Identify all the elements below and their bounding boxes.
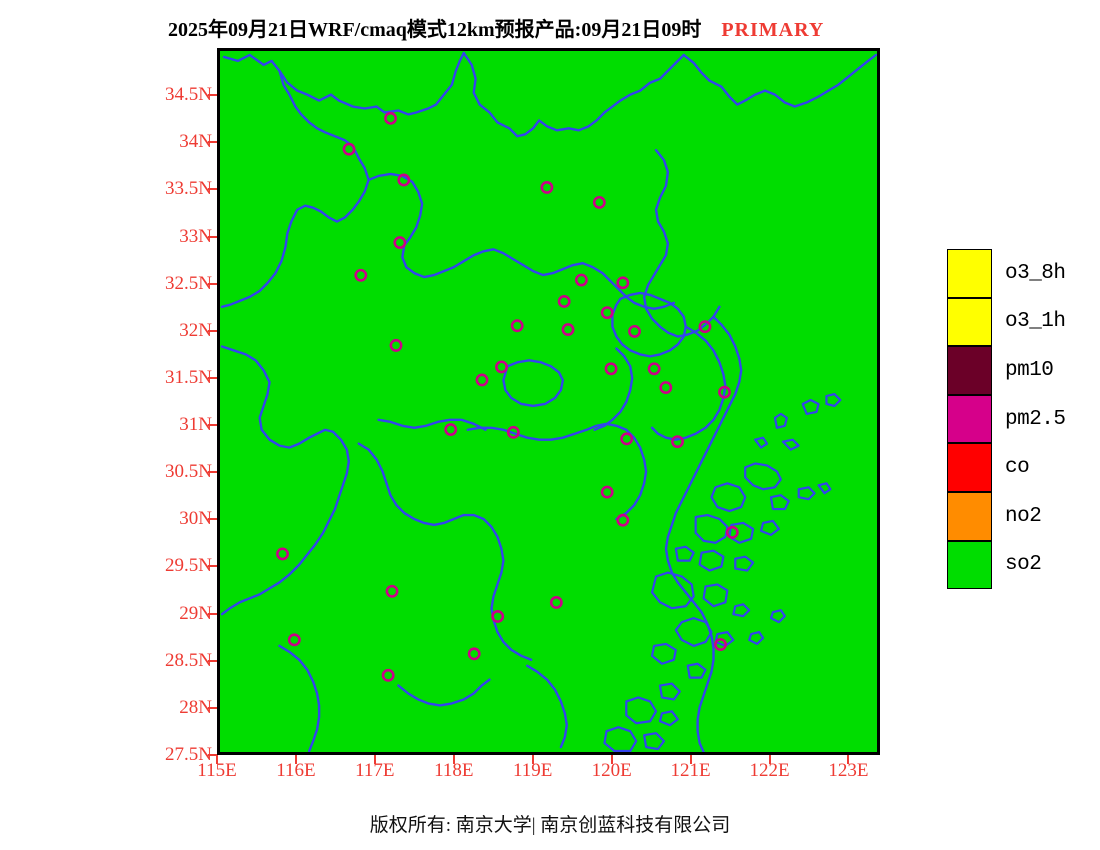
x-axis-tick-mark [295,755,297,764]
station-marker[interactable] [385,113,395,123]
x-axis-tick-mark [216,755,218,764]
station-marker[interactable] [383,670,393,680]
legend-item-so2[interactable]: so2 [947,541,1097,590]
legend-color-swatch [947,492,992,541]
station-marker[interactable] [727,527,737,537]
x-axis-tick-mark [769,755,771,764]
legend-color-swatch [947,346,992,395]
y-axis-tick-label: 31.5N [165,367,212,389]
x-axis-tick-mark [532,755,534,764]
legend-item-label: pm10 [1005,359,1053,382]
legend-item-co[interactable]: co [947,443,1097,492]
y-axis-tick-label: 33.5N [165,178,212,200]
station-marker[interactable] [622,434,632,444]
copyright-footer: 版权所有: 南京大学| 南京创蓝科技有限公司 [0,810,1100,837]
y-axis-tick-label: 30.5N [165,461,212,483]
page-title: 2025年09月21日WRF/cmaq模式12km预报产品:09月21日09时 [168,13,701,42]
station-marker[interactable] [602,487,612,497]
y-axis-tick-mark [208,471,217,473]
legend-item-o38h[interactable]: o3_8h [947,249,1097,298]
station-marker[interactable] [661,382,671,392]
legend-item-label: co [1005,456,1029,479]
legend-color-swatch [947,249,992,298]
station-marker[interactable] [672,437,682,447]
station-marker[interactable] [277,549,287,559]
station-marker[interactable] [446,424,456,434]
y-axis-tick-mark [208,283,217,285]
station-marker[interactable] [551,597,561,607]
province-boundaries [222,53,876,752]
legend-item-label: no2 [1005,505,1041,528]
station-marker[interactable] [289,635,299,645]
station-marker[interactable] [649,364,659,374]
y-axis-tick-mark [208,424,217,426]
y-axis-tick-mark [208,613,217,615]
pollutant-legend[interactable]: o3_8ho3_1hpm10pm2.5cono2so2 [947,249,1097,589]
y-axis-tick-mark [208,660,217,662]
station-marker[interactable] [618,515,628,525]
legend-item-label: o3_8h [1005,262,1066,285]
legend-item-pm25[interactable]: pm2.5 [947,395,1097,444]
x-axis-tick-mark [374,755,376,764]
y-axis-tick-mark [208,94,217,96]
station-marker[interactable] [387,586,397,596]
station-marker[interactable] [344,144,354,154]
legend-item-label: so2 [1005,553,1041,576]
station-marker[interactable] [496,362,506,372]
y-axis-tick-mark [208,565,217,567]
y-axis-tick-mark [208,330,217,332]
y-axis-tick-label: 32.5N [165,273,212,295]
station-marker[interactable] [602,308,612,318]
station-marker[interactable] [512,321,522,331]
y-axis-tick-mark [208,707,217,709]
map-plot-area[interactable] [217,48,880,755]
station-marker[interactable] [618,278,628,288]
station-marker[interactable] [606,364,616,374]
y-axis-tick-mark [208,518,217,520]
station-marker[interactable] [563,324,573,334]
station-marker[interactable] [477,375,487,385]
legend-item-label: pm2.5 [1005,408,1066,431]
y-axis-tick-label: 28.5N [165,650,212,672]
y-axis-tick-mark [208,377,217,379]
legend-color-swatch [947,541,992,590]
y-axis-tick-label: 34.5N [165,84,212,106]
x-axis-tick-mark [611,755,613,764]
station-marker[interactable] [391,340,401,350]
legend-item-pm10[interactable]: pm10 [947,346,1097,395]
legend-color-swatch [947,298,992,347]
primary-pollutant-label: PRIMARY [721,19,824,42]
legend-item-label: o3_1h [1005,310,1066,333]
station-marker[interactable] [629,326,639,336]
station-marker[interactable] [559,296,569,306]
station-marker[interactable] [356,270,366,280]
x-axis-tick-mark [847,755,849,764]
y-axis-tick-label: 29.5N [165,555,212,577]
station-marker[interactable] [395,237,405,247]
x-axis: 115E116E117E118E119E120E121E122E123E [0,760,1100,790]
station-marker[interactable] [594,197,604,207]
y-axis-tick-mark [208,236,217,238]
map-vector-layer [220,51,877,752]
legend-item-no2[interactable]: no2 [947,492,1097,541]
station-marker[interactable] [469,649,479,659]
y-axis-tick-mark [208,188,217,190]
station-marker[interactable] [576,275,586,285]
station-marker[interactable] [542,182,552,192]
legend-color-swatch [947,395,992,444]
chart-title-bar: 2025年09月21日WRF/cmaq模式12km预报产品:09月21日09时 … [168,13,824,39]
x-axis-tick-mark [690,755,692,764]
legend-color-swatch [947,443,992,492]
y-axis: 34.5N34N33.5N33N32.5N32N31.5N31N30.5N30N… [140,0,212,850]
x-axis-tick-mark [453,755,455,764]
y-axis-tick-mark [208,141,217,143]
station-markers-layer [277,113,737,680]
legend-item-o31h[interactable]: o3_1h [947,298,1097,347]
